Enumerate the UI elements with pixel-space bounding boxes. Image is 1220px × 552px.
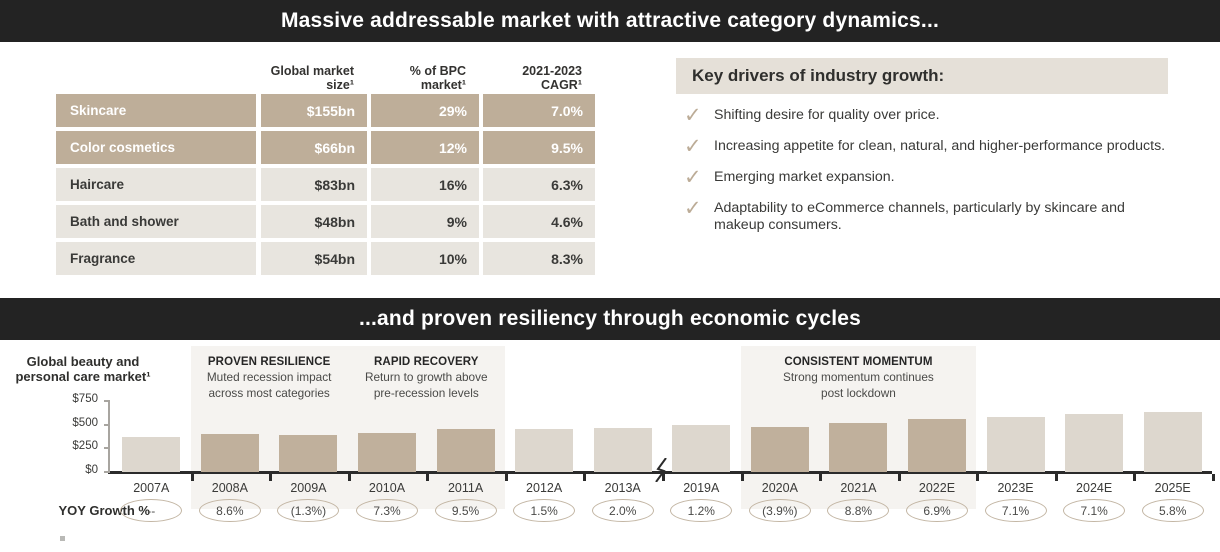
key-drivers-title: Key drivers of industry growth: bbox=[676, 58, 1168, 94]
key-driver-item: ✓Emerging market expansion. bbox=[676, 169, 1168, 187]
table-header-size-line2: size¹ bbox=[256, 78, 354, 92]
table-cell-category: Skincare bbox=[56, 94, 256, 127]
y-axis-tick-mark bbox=[104, 400, 110, 402]
table-cell-category: Haircare bbox=[56, 168, 256, 201]
key-driver-item: ✓Shifting desire for quality over price. bbox=[676, 107, 1168, 125]
yoy-growth-pill: 1.5% bbox=[513, 499, 575, 522]
annotation-title: PROVEN RESILIENCE bbox=[191, 356, 348, 368]
x-axis-tick-mark bbox=[819, 474, 822, 481]
x-axis-tick-mark bbox=[505, 474, 508, 481]
annotation-title: RAPID RECOVERY bbox=[348, 356, 505, 368]
x-axis-tick-mark bbox=[1133, 474, 1136, 481]
table-cell-cagr: 9.5% bbox=[483, 131, 595, 164]
annotation-subtitle-line2: post lockdown bbox=[741, 386, 977, 400]
x-axis-label: 2021A bbox=[819, 481, 898, 495]
banner-top-text: Massive addressable market with attracti… bbox=[281, 9, 939, 33]
table-cell-category: Color cosmetics bbox=[56, 131, 256, 164]
x-axis-tick-mark bbox=[191, 474, 194, 481]
key-driver-item: ✓Increasing appetite for clean, natural,… bbox=[676, 138, 1168, 156]
x-axis-tick-mark bbox=[1055, 474, 1058, 481]
table-cell-size: $66bn bbox=[261, 131, 367, 164]
table-header-cagr-line2: CAGR¹ bbox=[478, 78, 582, 92]
annotation-callout: RAPID RECOVERYReturn to growth abovepre-… bbox=[348, 356, 505, 400]
x-axis-tick-mark bbox=[426, 474, 429, 481]
bar bbox=[437, 429, 495, 472]
key-driver-text: Shifting desire for quality over price. bbox=[714, 107, 940, 124]
x-axis-label: 2022E bbox=[898, 481, 977, 495]
y-axis-tick-mark bbox=[104, 424, 110, 426]
y-axis-tick-label: $0 bbox=[40, 464, 98, 476]
check-icon: ✓ bbox=[684, 107, 714, 125]
yoy-growth-pill: 7.3% bbox=[356, 499, 418, 522]
table-cell-share: 29% bbox=[371, 94, 479, 127]
bar bbox=[122, 437, 180, 472]
table-header-cagr: 2021-2023 CAGR¹ bbox=[478, 64, 594, 92]
yoy-growth-pill: 2.0% bbox=[592, 499, 654, 522]
annotation-subtitle-line1: Return to growth above bbox=[348, 370, 505, 384]
yoy-growth-pill: 5.8% bbox=[1142, 499, 1204, 522]
key-driver-item: ✓Adaptability to eCommerce channels, par… bbox=[676, 200, 1168, 234]
table-header-size: Global market size¹ bbox=[256, 64, 366, 92]
table-cell-size: $54bn bbox=[261, 242, 367, 275]
table-header-cagr-line1: 2021-2023 bbox=[478, 64, 582, 78]
table-cell-cagr: 4.6% bbox=[483, 205, 595, 238]
x-axis-tick-mark bbox=[583, 474, 586, 481]
annotation-subtitle-line1: Muted recession impact bbox=[191, 370, 348, 384]
table-cell-share: 16% bbox=[371, 168, 479, 201]
market-table: Global market size¹ % of BPC market¹ 202… bbox=[56, 54, 604, 279]
x-axis-label: 2009A bbox=[269, 481, 348, 495]
y-axis-line bbox=[108, 400, 110, 473]
bar bbox=[358, 433, 416, 472]
x-axis-tick-mark bbox=[898, 474, 901, 481]
bar bbox=[908, 419, 966, 472]
yoy-growth-pill: 7.1% bbox=[1063, 499, 1125, 522]
y-axis-tick-mark bbox=[104, 471, 110, 473]
chart-title: Global beauty and personal care market¹ bbox=[12, 354, 154, 384]
check-icon: ✓ bbox=[684, 138, 714, 156]
table-cell-size: $155bn bbox=[261, 94, 367, 127]
section-banner-top: Massive addressable market with attracti… bbox=[0, 0, 1220, 42]
table-row: Color cosmetics$66bn12%9.5% bbox=[56, 131, 604, 164]
table-cell-cagr: 8.3% bbox=[483, 242, 595, 275]
bar bbox=[279, 435, 337, 472]
y-axis-tick-mark bbox=[104, 447, 110, 449]
y-axis-tick-label: $500 bbox=[40, 417, 98, 429]
table-cell-category: Fragrance bbox=[56, 242, 256, 275]
x-axis-label: 2013A bbox=[583, 481, 662, 495]
x-axis-tick-mark bbox=[348, 474, 351, 481]
x-axis-tick-mark bbox=[741, 474, 744, 481]
yoy-growth-pill: 8.6% bbox=[199, 499, 261, 522]
table-row: Bath and shower$48bn9%4.6% bbox=[56, 205, 604, 238]
table-cell-size: $83bn bbox=[261, 168, 367, 201]
annotation-subtitle-line1: Strong momentum continues bbox=[741, 370, 977, 384]
x-axis-label: 2025E bbox=[1133, 481, 1212, 495]
x-axis-label: 2008A bbox=[191, 481, 270, 495]
table-header-share-line2: market¹ bbox=[366, 78, 466, 92]
chart-plot-area: $750$500$250$0 bbox=[0, 400, 1220, 475]
table-header-share-line1: % of BPC bbox=[366, 64, 466, 78]
x-axis-label: 2012A bbox=[505, 481, 584, 495]
key-drivers-panel: Key drivers of industry growth: ✓Shiftin… bbox=[676, 58, 1168, 234]
annotation-callout: PROVEN RESILIENCEMuted recession impacta… bbox=[191, 356, 348, 400]
table-cell-size: $48bn bbox=[261, 205, 367, 238]
yoy-growth-pill: 7.1% bbox=[985, 499, 1047, 522]
table-cell-cagr: 7.0% bbox=[483, 94, 595, 127]
table-row: Skincare$155bn29%7.0% bbox=[56, 94, 604, 127]
key-drivers-list: ✓Shifting desire for quality over price.… bbox=[676, 107, 1168, 234]
table-row: Fragrance$54bn10%8.3% bbox=[56, 242, 604, 275]
bar bbox=[751, 427, 809, 472]
bar bbox=[987, 417, 1045, 472]
table-row: Haircare$83bn16%6.3% bbox=[56, 168, 604, 201]
annotation-subtitle-line2: across most categories bbox=[191, 386, 348, 400]
table-cell-category: Bath and shower bbox=[56, 205, 256, 238]
yoy-growth-pill: 8.8% bbox=[827, 499, 889, 522]
yoy-growth-pill: (3.9%) bbox=[749, 499, 811, 522]
axis-break-icon bbox=[650, 458, 674, 482]
table-header-row: Global market size¹ % of BPC market¹ 202… bbox=[56, 54, 604, 94]
key-driver-text: Emerging market expansion. bbox=[714, 169, 895, 186]
check-icon: ✓ bbox=[684, 200, 714, 218]
bar bbox=[515, 429, 573, 472]
annotation-callout: CONSISTENT MOMENTUMStrong momentum conti… bbox=[741, 356, 977, 400]
x-axis-tick-mark bbox=[976, 474, 979, 481]
key-driver-text: Increasing appetite for clean, natural, … bbox=[714, 138, 1165, 155]
x-axis-label: 2007A bbox=[112, 481, 191, 495]
table-body: Skincare$155bn29%7.0%Color cosmetics$66b… bbox=[56, 94, 604, 275]
table-cell-share: 12% bbox=[371, 131, 479, 164]
yoy-growth-pill: 1.2% bbox=[670, 499, 732, 522]
bar bbox=[1144, 412, 1202, 472]
bar bbox=[672, 425, 730, 472]
section-banner-mid: ...and proven resiliency through economi… bbox=[0, 298, 1220, 340]
annotation-title: CONSISTENT MOMENTUM bbox=[741, 356, 977, 368]
bar bbox=[1065, 414, 1123, 472]
table-cell-cagr: 6.3% bbox=[483, 168, 595, 201]
y-axis-tick-label: $250 bbox=[40, 440, 98, 452]
x-axis-label: 2023E bbox=[976, 481, 1055, 495]
x-axis-tick-mark bbox=[269, 474, 272, 481]
table-cell-share: 9% bbox=[371, 205, 479, 238]
growth-bar-chart: Global beauty and personal care market¹ … bbox=[0, 346, 1220, 552]
yoy-growth-pill: -- bbox=[120, 499, 182, 522]
table-header-share: % of BPC market¹ bbox=[366, 64, 478, 92]
annotation-subtitle-line2: pre-recession levels bbox=[348, 386, 505, 400]
table-header-size-line1: Global market bbox=[256, 64, 354, 78]
bar bbox=[201, 434, 259, 472]
yoy-growth-pill: 9.5% bbox=[435, 499, 497, 522]
banner-mid-text: ...and proven resiliency through economi… bbox=[359, 307, 861, 331]
y-axis-tick-label: $750 bbox=[40, 393, 98, 405]
bar bbox=[829, 423, 887, 472]
yoy-growth-pill: 6.9% bbox=[906, 499, 968, 522]
bar bbox=[594, 428, 652, 472]
x-axis-label: 2020A bbox=[741, 481, 820, 495]
check-icon: ✓ bbox=[684, 169, 714, 187]
x-axis-tick-mark bbox=[1212, 474, 1215, 481]
x-axis-label: 2024E bbox=[1055, 481, 1134, 495]
footnote-marker bbox=[60, 536, 65, 541]
x-axis-label: 2011A bbox=[426, 481, 505, 495]
table-cell-share: 10% bbox=[371, 242, 479, 275]
yoy-growth-pill: (1.3%) bbox=[277, 499, 339, 522]
x-axis-label: 2010A bbox=[348, 481, 427, 495]
key-driver-text: Adaptability to eCommerce channels, part… bbox=[714, 200, 1168, 234]
x-axis-label: 2019A bbox=[662, 481, 741, 495]
